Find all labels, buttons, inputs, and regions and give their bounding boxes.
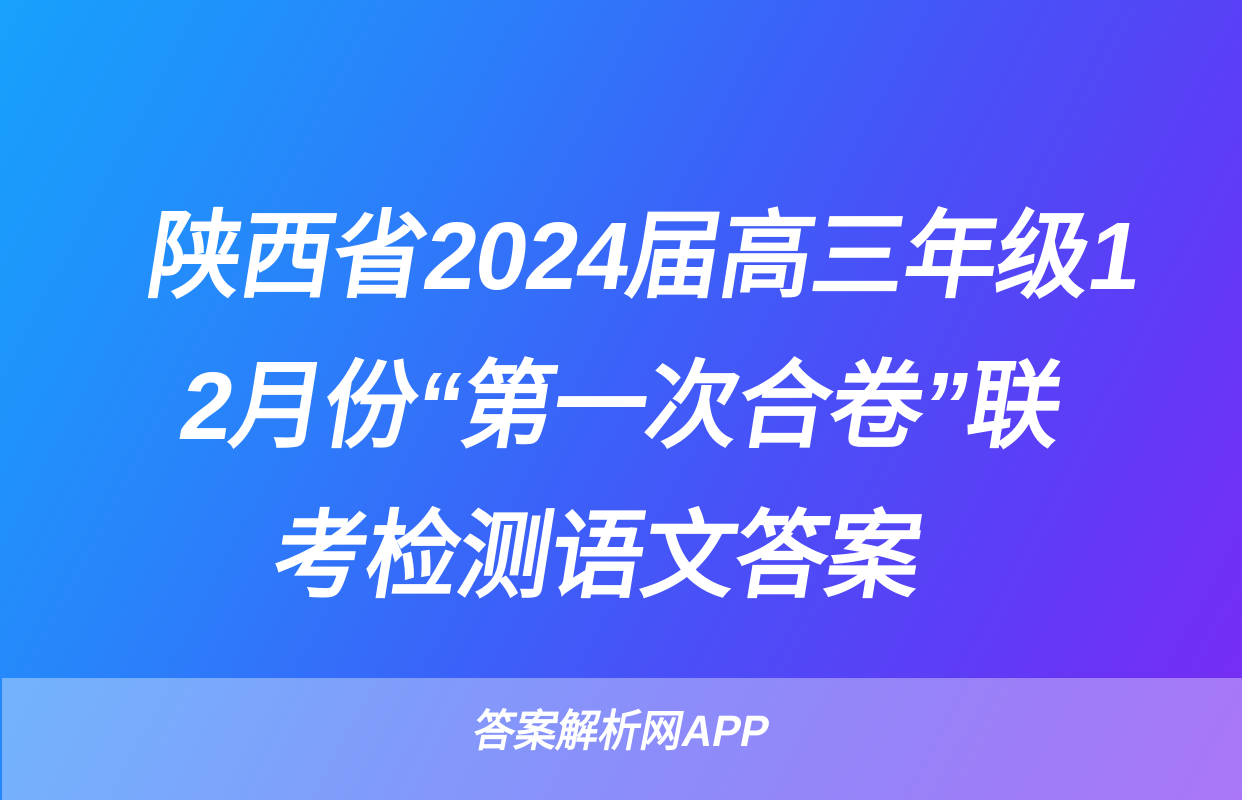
title-line-3: 考检测语文答案 — [0, 482, 1211, 632]
page-title: 陕西省2024届高三年级1 2月份“第一次合卷”联 考检测语文答案 — [0, 182, 1242, 632]
poster-canvas: 陕西省2024届高三年级1 2月份“第一次合卷”联 考检测语文答案 答案解析网A… — [0, 0, 1242, 800]
title-line-2: 2月份“第一次合卷”联 — [7, 332, 1235, 482]
title-line-1: 陕西省2024届高三年级1 — [31, 182, 1242, 332]
watermark-label: 答案解析网APP — [468, 706, 773, 758]
watermark-branding: 答案解析网APP — [0, 706, 1242, 758]
